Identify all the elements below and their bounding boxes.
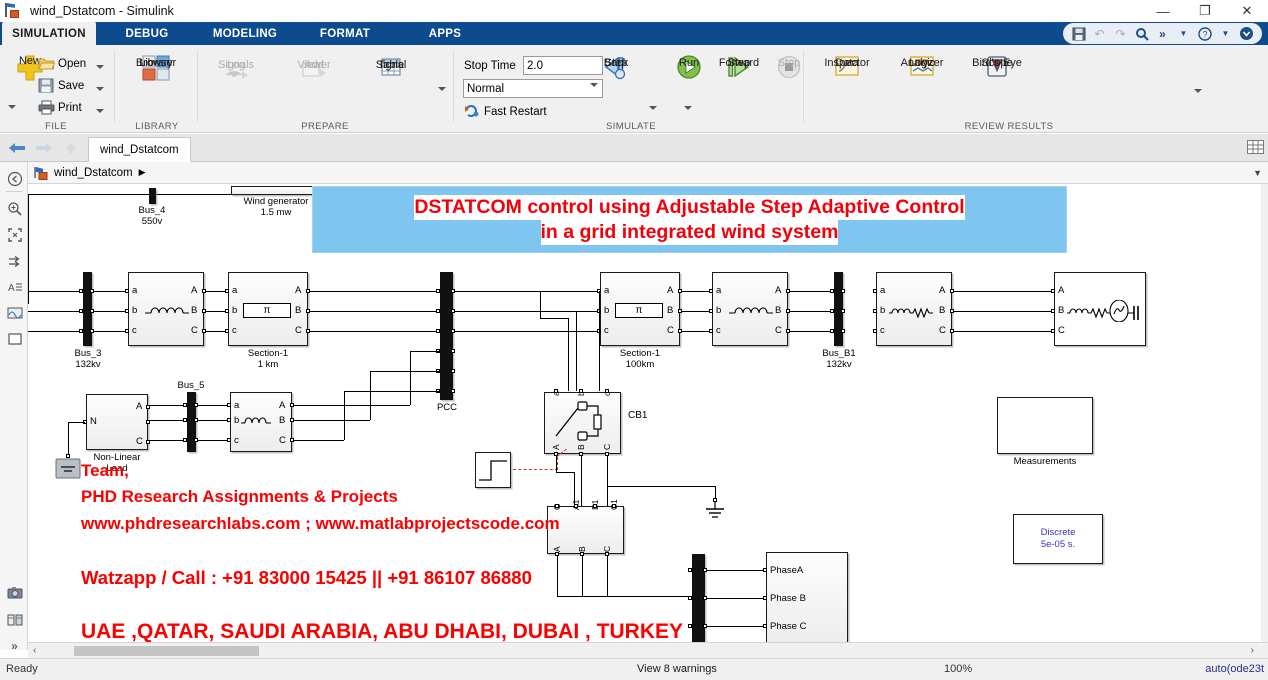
simulink-window: wind_Dstatcom - Simulink — ❐ ✕ SIMULATIO… — [0, 0, 1268, 680]
section-100km-port-a: a — [604, 285, 609, 296]
status-solver: auto(ode23t — [1205, 663, 1264, 675]
transformer-3-port-c: c — [234, 435, 239, 446]
signal-table-button[interactable]: Signal Table — [363, 57, 419, 81]
watermark-line-5: UAE ,QATAR, SAUDI ARABIA, ABU DHABI, DUB… — [81, 620, 683, 642]
ribbon-group-library-label: LIBRARY — [118, 121, 196, 132]
prepare-group-dropdown[interactable] — [438, 79, 446, 98]
ribbon-group-simulate-label: SIMULATE — [536, 121, 726, 132]
fast-restart-icon — [464, 104, 481, 120]
save-button-label: Save — [58, 80, 84, 92]
step-signal-block[interactable] — [475, 452, 511, 488]
powergui-block[interactable]: Discrete 5e-05 s. — [1013, 514, 1103, 564]
ribbon-group-prepare-label: PREPARE — [200, 121, 450, 132]
section-100km-label: Section-1100km — [620, 348, 660, 370]
transformer-2-port-b: b — [716, 305, 721, 316]
status-bar: Ready View 8 warnings 100% auto(ode23t — [0, 658, 1268, 680]
stop-label: Stop — [778, 57, 801, 69]
section-1km-port-b: b — [232, 305, 237, 316]
status-ready: Ready — [6, 663, 38, 675]
signal-table-label-line2: Table — [378, 59, 404, 71]
help-icon[interactable]: ? — [1194, 24, 1215, 43]
section-1km-port-A: A — [295, 285, 301, 296]
model-tab-strip: wind_Dstatcom — [0, 134, 1268, 162]
pcc-label: PCC — [437, 402, 457, 413]
ground-left-block[interactable] — [54, 456, 82, 483]
rl-branch-port-A: A — [939, 285, 945, 296]
stop-time-label: Stop Time — [464, 60, 516, 72]
section-100km-port-B: B — [667, 305, 673, 316]
birds-eye-scope-button[interactable]: Bird's-Eye Scope — [969, 55, 1025, 81]
fit-to-view-icon[interactable] — [4, 224, 25, 245]
redo-icon[interactable]: ↷ — [1110, 24, 1131, 43]
watermark-line-4: Watzapp / Call : +91 83000 15425 || +91 … — [81, 567, 532, 589]
ribbon-group-review-results: Data Inspector Logic Analyzer Bird's-Eye… — [806, 45, 1212, 133]
section-100km-port-C: C — [667, 325, 674, 336]
bus-5-label: Bus_5 — [178, 380, 205, 391]
canvas-left-toolbar: A » — [0, 162, 28, 650]
canvas-horizontal-scroll-row[interactable]: ‹ › — [28, 642, 1268, 658]
ribbon-tab-bar: SIMULATION DEBUG MODELING FORMAT APPS ↶ … — [0, 22, 1268, 45]
data-inspector-button[interactable]: Data Inspector — [819, 55, 875, 81]
dstatcom-port-phase-a: PhaseA — [770, 565, 803, 576]
step-back-button[interactable]: Step Back — [588, 55, 644, 81]
section-1km-port-C: C — [295, 325, 302, 336]
tab-debug[interactable]: DEBUG — [100, 22, 194, 45]
rl-symbol-1 — [888, 302, 940, 321]
banner-line-1: DSTATCOM control using Adjustable Step A… — [414, 195, 964, 220]
inductor-symbol-2 — [727, 302, 775, 321]
section-100km-port-c: c — [604, 325, 609, 336]
data-inspector-label-line2: Inspector — [824, 57, 869, 69]
folder-open-icon — [38, 56, 55, 72]
simulink-model-icon — [5, 3, 23, 19]
banner-line-2: in a grid integrated wind system — [541, 220, 839, 245]
section-100km-port-b: b — [604, 305, 609, 316]
simulation-mode-select[interactable]: Normal — [463, 79, 603, 98]
nonlinear-load-port-A: A — [136, 401, 142, 412]
svg-text:A: A — [8, 283, 15, 294]
collapse-ribbon-icon[interactable] — [1236, 24, 1257, 43]
ribbon-group-prepare: Log Signals Add Viewer Signal Table PREP… — [200, 45, 450, 133]
transformer-1-port-A: A — [191, 285, 197, 296]
tab-simulation[interactable]: SIMULATION — [2, 22, 96, 45]
section-100km-port-A: A — [667, 285, 673, 296]
ground-right-block[interactable] — [703, 500, 727, 525]
layout-grid-icon[interactable] — [1247, 140, 1264, 154]
window-title: wind_Dstatcom - Simulink — [30, 4, 174, 18]
log-signals-label-line2: Signals — [218, 59, 254, 71]
model-icon — [34, 166, 49, 180]
add-viewer-button[interactable]: Add Viewer — [286, 57, 342, 83]
scroll-right-icon[interactable]: › — [1251, 645, 1254, 656]
close-button[interactable]: ✕ — [1226, 0, 1268, 22]
run-label: Run — [679, 57, 699, 69]
breadcrumb-root[interactable]: wind_Dstatcom — [54, 167, 133, 179]
save-button[interactable]: Save — [38, 76, 84, 95]
print-button-label: Print — [58, 102, 82, 114]
pi-section-symbol-1: π — [243, 303, 291, 318]
inductor-symbol-1 — [143, 302, 191, 321]
bus-4-label: Bus_4550v — [139, 205, 166, 227]
section-1km-port-B: B — [295, 305, 301, 316]
library-browser-label-line2: Browser — [136, 57, 176, 69]
run-dropdown[interactable] — [684, 98, 692, 117]
bus-4-bar[interactable] — [149, 188, 156, 204]
open-button[interactable]: Open — [38, 54, 86, 73]
transformer-2-port-c: c — [716, 325, 721, 336]
breadcrumb-collapse-icon[interactable]: ▼ — [1253, 168, 1262, 178]
step-forward-label-line2: Forward — [719, 57, 759, 69]
new-dropdown[interactable] — [2, 101, 22, 109]
run-button[interactable]: Run — [661, 55, 717, 81]
restore-button[interactable]: ❐ — [1184, 0, 1226, 22]
status-warnings-link[interactable]: View 8 warnings — [637, 663, 717, 675]
powergui-line-2: 5e-05 s. — [1041, 539, 1075, 550]
breaker-symbol — [552, 398, 614, 451]
model-tab-label: wind_Dstatcom — [100, 144, 179, 156]
rl-branch-port-C: C — [939, 325, 946, 336]
annotation-icon[interactable]: A — [4, 276, 25, 297]
add-viewer-label-line2: Viewer — [297, 59, 330, 71]
up-to-parent-icon[interactable] — [60, 138, 82, 158]
transformer-3-port-C: C — [279, 435, 286, 446]
transformer-2-port-a: a — [716, 285, 721, 296]
model-compare-icon[interactable] — [4, 609, 25, 630]
floppy-disk-icon — [38, 78, 55, 94]
expand-toolbar-icon[interactable]: » — [4, 635, 25, 656]
library-browser-button[interactable]: Library Browser — [128, 55, 184, 82]
watermark-line-3: www.phdresearchlabs.com ; www.matlabproj… — [81, 514, 560, 534]
nonlinear-load-port-C: C — [136, 436, 143, 447]
open-button-label: Open — [58, 58, 86, 70]
transformer-2-port-C: C — [775, 325, 782, 336]
transformer-1-port-b: b — [132, 305, 137, 316]
measurements-block[interactable] — [997, 397, 1093, 454]
subsystem-icon[interactable] — [4, 328, 25, 349]
transformer-3-port-a: a — [234, 400, 239, 411]
pi-section-symbol-2: π — [615, 303, 663, 318]
save-dropdown[interactable] — [96, 79, 104, 98]
transformer-2-port-A: A — [775, 285, 781, 296]
breadcrumb: wind_Dstatcom ▶ ▼ — [28, 162, 1268, 184]
back-navigation-icon[interactable] — [6, 138, 28, 158]
breadcrumb-expand-icon[interactable]: ▶ — [139, 167, 146, 178]
section-1km-label: Section-11 km — [248, 348, 288, 370]
forward-navigation-icon[interactable] — [33, 138, 55, 158]
search-icon[interactable] — [1131, 24, 1152, 43]
wind-generator-label: Wind generator1.5 mw — [244, 196, 309, 218]
port-direction-icon[interactable] — [4, 250, 25, 271]
window-controls: — ❐ ✕ — [1142, 0, 1268, 22]
transformer-2-port-B: B — [775, 305, 781, 316]
canvas-vertical-scrollbar[interactable] — [1261, 184, 1268, 642]
transformer-1-port-c: c — [132, 325, 137, 336]
step-back-dropdown[interactable] — [649, 98, 657, 117]
more-commands-icon[interactable]: » — [1152, 24, 1173, 43]
minimize-button[interactable]: — — [1142, 0, 1184, 22]
model-canvas[interactable]: Bus_4550v Wind generator1.5 mw DSTATCOM … — [28, 184, 1261, 642]
quick-access-toolbar: ↶ ↷ » ▼ ? ▼ — [1063, 23, 1262, 44]
printer-icon — [38, 100, 55, 116]
ribbon-group-file-label: FILE — [0, 121, 112, 132]
source-symbol — [1066, 300, 1144, 325]
logic-analyzer-button[interactable]: Logic Analyzer — [894, 55, 950, 81]
zoom-icon[interactable] — [4, 198, 25, 219]
rl-branch-port-c: c — [880, 325, 885, 336]
save-icon[interactable] — [1068, 24, 1089, 43]
watermark-line-2: PHD Research Assignments & Projects — [81, 487, 398, 507]
transformer-1-port-B: B — [191, 305, 197, 316]
ribbon: New Open Save — [0, 45, 1268, 133]
undo-icon[interactable]: ↶ — [1089, 24, 1110, 43]
birds-eye-scope-label-line2: Scope — [981, 57, 1012, 69]
fast-restart-button[interactable]: Fast Restart — [464, 102, 547, 121]
tab-modeling[interactable]: MODELING — [198, 22, 292, 45]
source-port-A: A — [1058, 285, 1064, 296]
help-dropdown-icon[interactable]: ▼ — [1215, 24, 1236, 43]
open-dropdown[interactable] — [96, 57, 104, 76]
scroll-left-icon[interactable]: ‹ — [33, 645, 36, 656]
tab-format[interactable]: FORMAT — [298, 22, 392, 45]
measurements-label: Measurements — [1014, 456, 1077, 467]
print-button[interactable]: Print — [38, 98, 82, 117]
ribbon-group-review-label: REVIEW RESULTS — [806, 121, 1212, 132]
logic-analyzer-label-line2: Analyzer — [901, 57, 944, 69]
source-port-C: C — [1058, 325, 1065, 336]
ribbon-group-simulate: Stop Time Normal Fast Restart Step Back — [456, 45, 801, 133]
nonlinear-load-port-N: N — [90, 416, 97, 427]
fast-restart-label: Fast Restart — [484, 106, 547, 118]
camera-icon[interactable] — [4, 582, 25, 603]
dstatcom-port-phase-b: Phase B — [770, 593, 806, 604]
bus-3-label: Bus_3132kv — [75, 348, 102, 370]
bus-5-bar[interactable] — [187, 392, 196, 452]
dstatcom-port-phase-c: Phase C — [770, 621, 806, 632]
watermark-line-1: Team, — [81, 461, 129, 481]
transformer-1-port-a: a — [132, 285, 137, 296]
horizontal-scroll-thumb[interactable] — [74, 646, 259, 656]
transformer-3-port-b: b — [234, 415, 239, 426]
ribbon-group-file: New Open Save — [0, 45, 112, 133]
source-port-B: B — [1058, 305, 1064, 316]
bus-b1-label: Bus_B1132kv — [822, 348, 855, 370]
simulation-mode-value: Normal — [467, 83, 504, 95]
powergui-line-1: Discrete — [1041, 527, 1076, 538]
model-tab[interactable]: wind_Dstatcom — [88, 137, 191, 162]
scope-viewer-icon[interactable] — [4, 302, 25, 323]
wind-generator-block[interactable] — [231, 186, 321, 195]
step-forward-button[interactable]: Step Forward — [711, 55, 767, 81]
status-zoom-level: 100% — [944, 663, 972, 675]
inductor-symbol-3 — [240, 412, 282, 431]
title-banner: DSTATCOM control using Adjustable Step A… — [312, 186, 1067, 253]
section-1km-port-a: a — [232, 285, 237, 296]
quick-access-dropdown-icon[interactable]: ▼ — [1173, 24, 1194, 43]
svg-text:?: ? — [1202, 29, 1207, 39]
transformer-3-port-A: A — [279, 400, 285, 411]
log-signals-button[interactable]: Log Signals — [208, 57, 264, 83]
section-1km-port-c: c — [232, 325, 237, 336]
rl-branch-port-b: b — [880, 305, 885, 316]
title-bar: wind_Dstatcom - Simulink — ❐ ✕ — [0, 0, 1268, 22]
rl-branch-port-a: a — [880, 285, 885, 296]
step-back-label-line2: Back — [604, 57, 628, 69]
cb1-label: CB1 — [628, 410, 647, 421]
review-results-dropdown[interactable] — [1194, 81, 1202, 100]
transformer-1-port-C: C — [191, 325, 198, 336]
tab-apps[interactable]: APPS — [398, 22, 492, 45]
navigate-up-icon[interactable] — [4, 168, 25, 189]
print-dropdown[interactable] — [96, 101, 104, 120]
ribbon-group-library: Library Browser LIBRARY — [118, 45, 196, 133]
